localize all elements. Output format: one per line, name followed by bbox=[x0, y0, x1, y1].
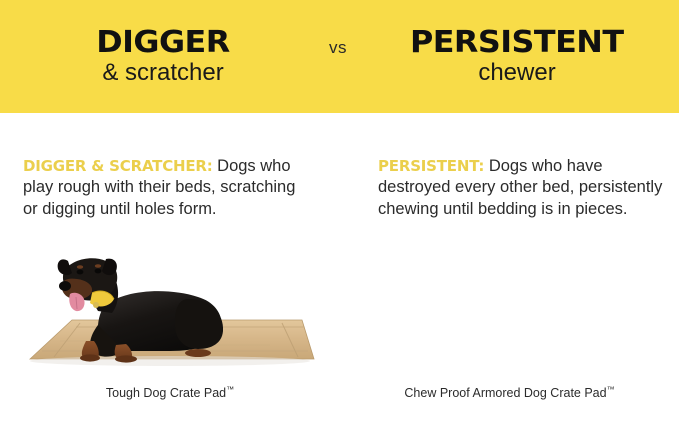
rottweiler-on-tan-pad-illustration bbox=[20, 241, 320, 381]
column-persistent-chewer: PERSISTENT: Dogs who have destroyed ever… bbox=[340, 113, 679, 426]
caption-text-right: Chew Proof Armored Dog Crate Pad bbox=[404, 386, 606, 400]
versus-label: vs bbox=[308, 38, 368, 58]
trademark-symbol-left: ™ bbox=[226, 385, 234, 394]
description-digger-scratcher: DIGGER & SCRATCHER: Dogs who play rough … bbox=[23, 156, 313, 221]
header-banner-inner: DIGGER & scratcher vs PERSISTENT chewer bbox=[0, 0, 679, 113]
column-digger-scratcher: DIGGER & SCRATCHER: Dogs who play rough … bbox=[0, 113, 340, 426]
caption-text-left: Tough Dog Crate Pad bbox=[106, 386, 226, 400]
banner-title-digger: DIGGER bbox=[96, 28, 229, 59]
description-lead-digger: DIGGER & SCRATCHER: bbox=[23, 157, 213, 175]
banner-subtitle-chewer: chewer bbox=[478, 60, 555, 85]
description-persistent-chewer: PERSISTENT: Dogs who have destroyed ever… bbox=[378, 156, 674, 221]
banner-subtitle-scratcher: & scratcher bbox=[102, 60, 223, 85]
banner-column-persistent: PERSISTENT chewer bbox=[372, 0, 662, 113]
banner-title-persistent: PERSISTENT bbox=[410, 28, 624, 59]
product-photo-tough-dog-crate-pad bbox=[20, 241, 320, 381]
comparison-infographic: DIGGER & scratcher vs PERSISTENT chewer … bbox=[0, 0, 679, 426]
caption-tough-dog-crate-pad: Tough Dog Crate Pad™ bbox=[0, 385, 340, 400]
content-columns: DIGGER & SCRATCHER: Dogs who play rough … bbox=[0, 113, 679, 426]
banner-column-digger: DIGGER & scratcher bbox=[18, 0, 308, 113]
trademark-symbol-right: ™ bbox=[607, 385, 615, 394]
caption-chew-proof-armored-crate-pad: Chew Proof Armored Dog Crate Pad™ bbox=[340, 385, 679, 400]
description-lead-persistent: PERSISTENT: bbox=[378, 157, 484, 175]
header-banner: DIGGER & scratcher vs PERSISTENT chewer bbox=[0, 0, 679, 113]
